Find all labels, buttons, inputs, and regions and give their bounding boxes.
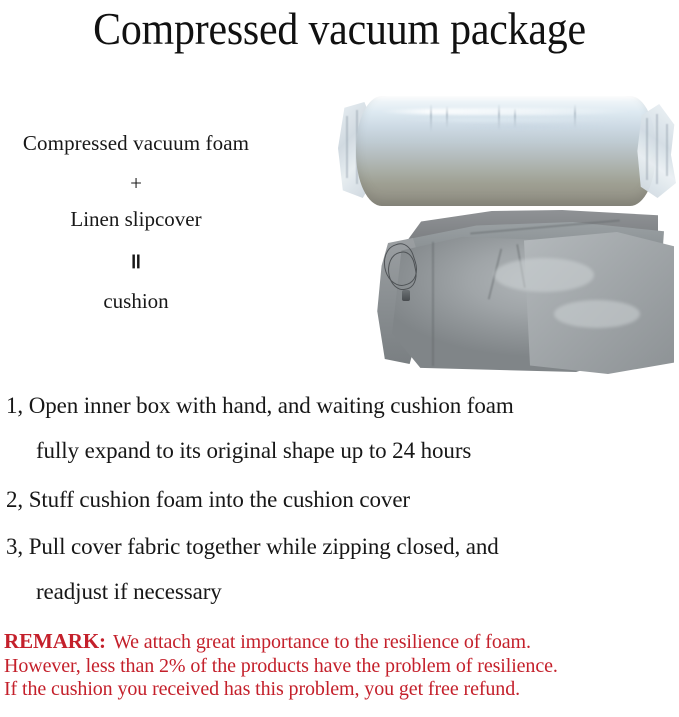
remark-line-2: However, less than 2% of the products ha… bbox=[4, 655, 676, 679]
step-2-line-1: 2, Stuff cushion foam into the cushion c… bbox=[6, 487, 410, 512]
plastic-sheen bbox=[458, 126, 608, 129]
step-1-line-1: 1, Open inner box with hand, and waiting… bbox=[6, 393, 514, 418]
formula-result-cushion: cushion bbox=[0, 288, 272, 314]
fabric-crease bbox=[432, 242, 434, 366]
plastic-sheen bbox=[398, 118, 628, 122]
plus-icon: + bbox=[0, 170, 272, 196]
folded-slipcover-image bbox=[374, 208, 674, 378]
remark-block: REMARK:We attach great importance to the… bbox=[4, 630, 676, 702]
remark-line-3: If the cushion you received has this pro… bbox=[4, 678, 676, 702]
step-3-line-1: 3, Pull cover fabric together while zipp… bbox=[6, 534, 499, 559]
plastic-sheen bbox=[378, 108, 636, 115]
crease bbox=[656, 114, 658, 184]
fabric-highlight bbox=[554, 300, 640, 328]
remark-label: REMARK: bbox=[4, 629, 106, 653]
crease bbox=[666, 124, 668, 176]
fabric-highlight bbox=[494, 258, 594, 292]
wrap-wrinkle bbox=[574, 104, 576, 128]
formula-term-foam: Compressed vacuum foam bbox=[0, 130, 272, 156]
formula-term-slipcover: Linen slipcover bbox=[0, 206, 272, 232]
instruction-step-3: 3, Pull cover fabric together while zipp… bbox=[0, 532, 679, 606]
wrap-wrinkle bbox=[446, 106, 448, 128]
wrap-wrinkle bbox=[498, 104, 500, 130]
step-3-line-2: readjust if necessary bbox=[6, 577, 679, 606]
instruction-step-2: 2, Stuff cushion foam into the cushion c… bbox=[0, 485, 679, 514]
equals-icon: ॥ bbox=[0, 248, 272, 276]
instruction-step-1: 1, Open inner box with hand, and waiting… bbox=[0, 391, 679, 465]
zipper-cord bbox=[382, 242, 426, 306]
remark-line-1: REMARK:We attach great importance to the… bbox=[4, 630, 676, 655]
product-photo bbox=[330, 80, 679, 385]
compressed-foam-roll-image bbox=[338, 92, 674, 210]
crease bbox=[346, 116, 348, 178]
wrap-wrinkle bbox=[514, 108, 516, 128]
zipper-pull-icon bbox=[402, 290, 410, 301]
formula-block: Compressed vacuum foam + Linen slipcover… bbox=[0, 130, 272, 314]
step-1-line-2: fully expand to its original shape up to… bbox=[6, 436, 679, 465]
remark-text-1: We attach great importance to the resili… bbox=[113, 631, 531, 653]
product-info-graphic: Compressed vacuum package Compressed vac… bbox=[0, 0, 679, 717]
wrap-wrinkle bbox=[430, 104, 432, 132]
instruction-list: 1, Open inner box with hand, and waiting… bbox=[0, 391, 679, 617]
page-title: Compressed vacuum package bbox=[24, 0, 655, 58]
crease bbox=[646, 118, 648, 180]
